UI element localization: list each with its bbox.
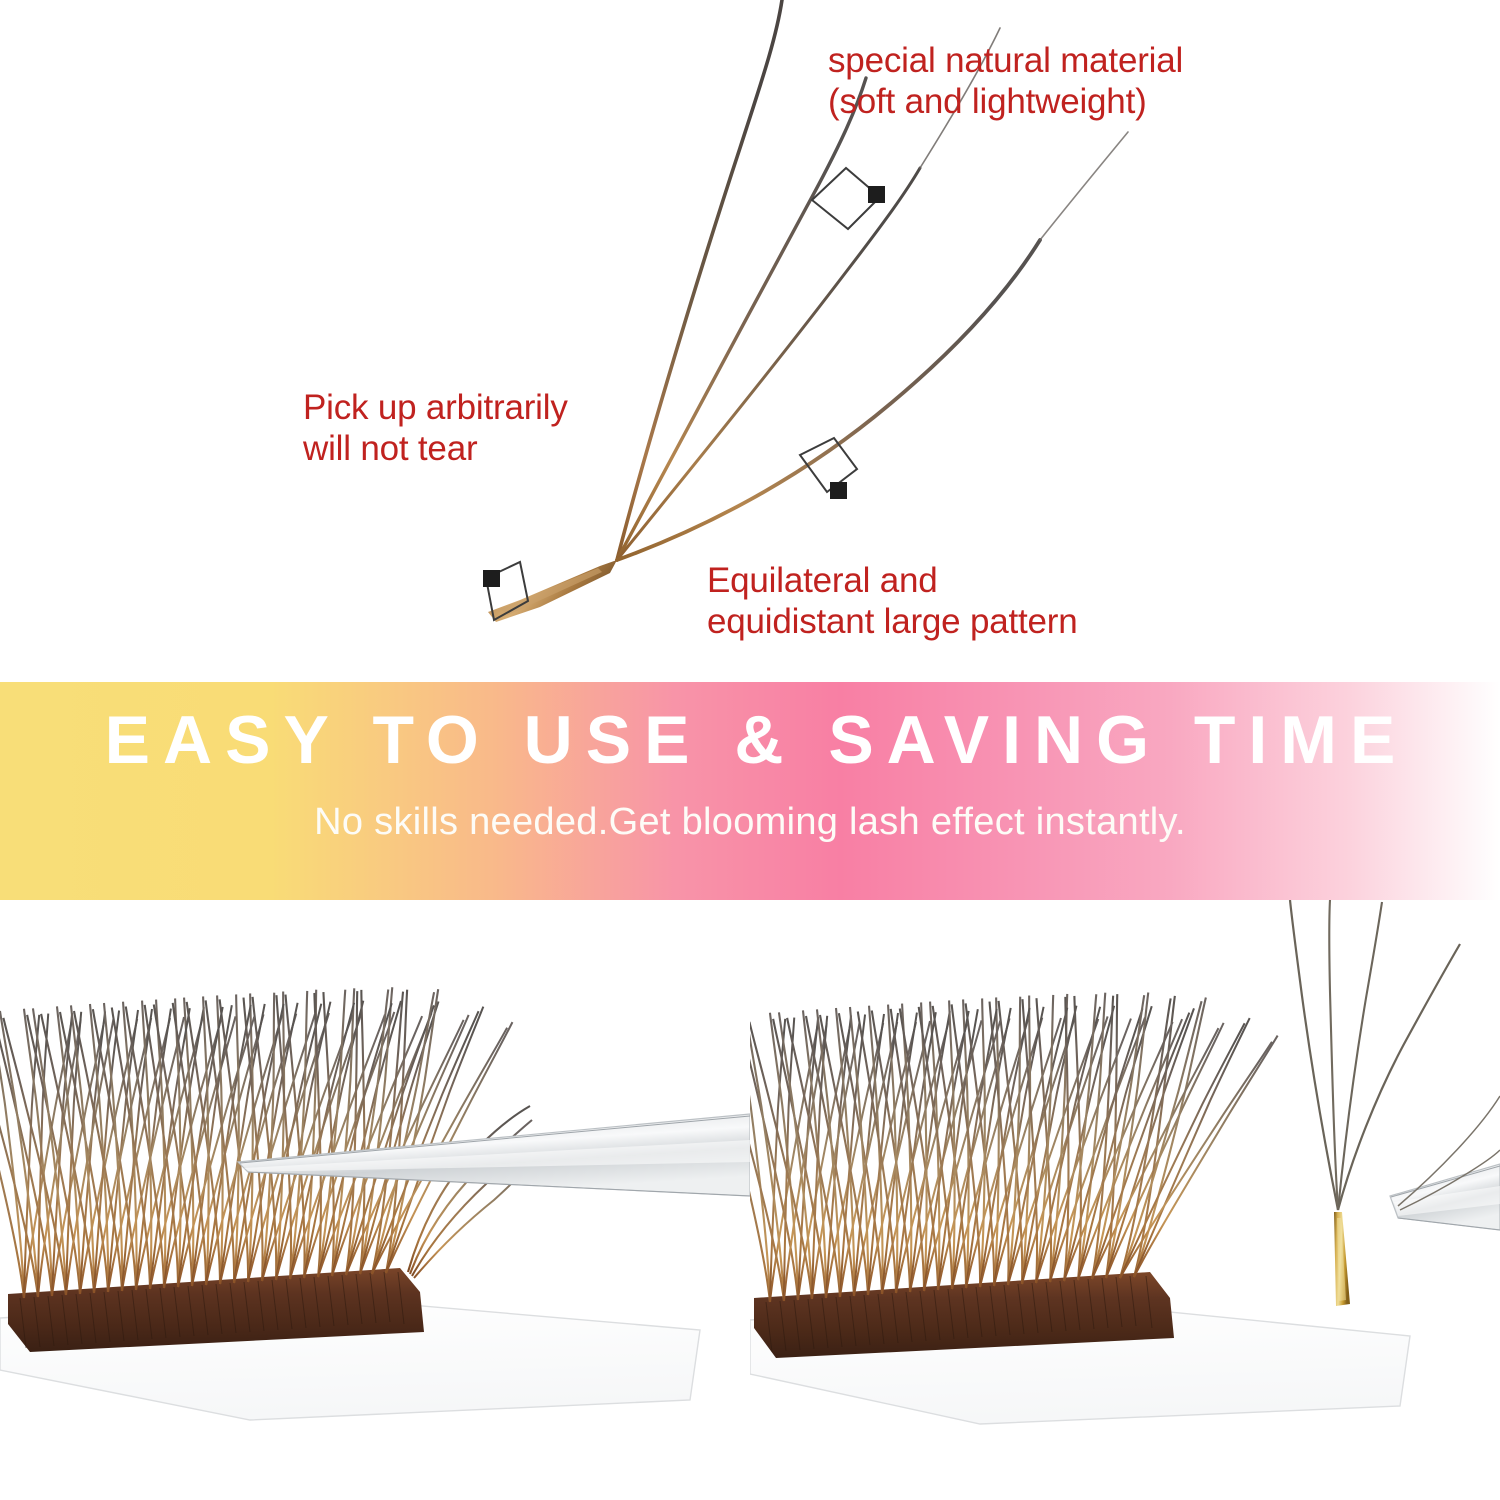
callout-label-special-natural-material: special natural material (soft and light… bbox=[828, 41, 1183, 122]
lash-tray-left-illustration bbox=[0, 900, 750, 1500]
photo-lash-tray-with-single-fan: 12mm bbox=[750, 900, 1500, 1500]
lash-fans bbox=[750, 986, 1282, 1304]
lash-fan-diagram-section: special natural material (soft and light… bbox=[0, 0, 1500, 682]
headline-banner: EASY TO USE & SAVING TIME No skills need… bbox=[0, 682, 1500, 900]
isolated-lash-fan bbox=[1290, 900, 1460, 1306]
callout-label-equilateral-equidistant: Equilateral and equidistant large patter… bbox=[707, 561, 1078, 642]
photo-lash-tray-with-tweezers: 12mm bbox=[0, 900, 750, 1500]
callout-box-equilateral bbox=[800, 438, 857, 499]
product-photos-section: 12mm bbox=[0, 900, 1500, 1500]
callout-label-pick-up-arbitrarily: Pick up arbitrarily will not tear bbox=[303, 388, 568, 469]
infographic-page: special natural material (soft and light… bbox=[0, 0, 1500, 1500]
lash-tray-right-illustration bbox=[750, 900, 1500, 1500]
banner-subtitle: No skills needed.Get blooming lash effec… bbox=[0, 802, 1500, 844]
tweezers bbox=[1390, 1096, 1500, 1230]
banner-headline: EASY TO USE & SAVING TIME bbox=[0, 706, 1500, 774]
lash-fans bbox=[0, 982, 516, 1301]
